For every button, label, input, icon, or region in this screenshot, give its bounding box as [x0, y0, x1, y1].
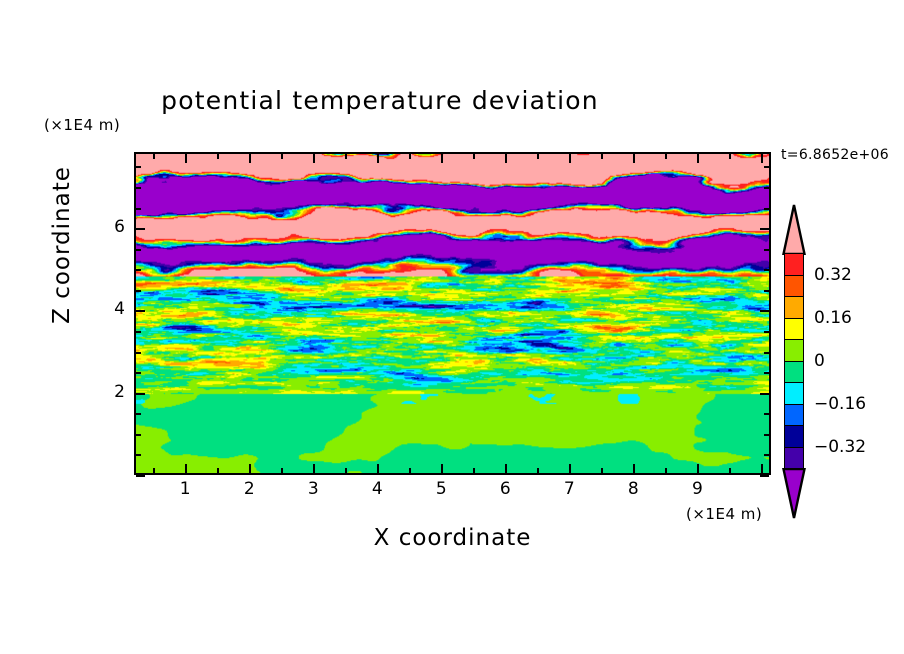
tick-x-bottom — [729, 468, 731, 473]
tick-x-bottom — [441, 464, 443, 473]
x-axis-unit-label: (×1E4 m) — [686, 505, 762, 523]
tick-y-left — [136, 187, 141, 189]
tick-x-bottom — [633, 464, 635, 473]
tick-y-left — [136, 249, 141, 251]
tick-x-bottom — [761, 464, 763, 473]
colorbar-band — [784, 253, 804, 276]
colorbar-band — [784, 382, 804, 405]
tick-x-bottom — [697, 464, 699, 473]
tick-x-top — [473, 154, 475, 159]
x-tick-label: 2 — [234, 479, 264, 499]
x-tick-label: 9 — [682, 479, 712, 499]
colorbar-band — [784, 447, 804, 470]
tick-y-left — [136, 228, 145, 230]
colorbar-tick-label: 0 — [814, 351, 884, 371]
tick-x-top — [665, 154, 667, 159]
tick-y-left — [136, 393, 145, 395]
colorbar-band — [784, 361, 804, 384]
x-tick-label: 7 — [554, 479, 584, 499]
tick-x-top — [505, 154, 507, 163]
tick-x-top — [217, 154, 219, 159]
y-tick-label: 4 — [95, 299, 125, 319]
tick-y-right — [760, 475, 769, 477]
tick-y-left — [136, 475, 145, 477]
tick-x-top — [185, 154, 187, 163]
colorbar-over-cap — [781, 203, 807, 253]
x-axis-title: X coordinate — [134, 525, 771, 551]
tick-x-top — [601, 154, 603, 159]
tick-x-top — [729, 154, 731, 159]
tick-x-bottom — [601, 468, 603, 473]
tick-x-bottom — [665, 468, 667, 473]
tick-x-top — [441, 154, 443, 163]
colorbar-tick-label: 0.16 — [814, 308, 884, 328]
tick-x-bottom — [153, 468, 155, 473]
y-tick-label: 2 — [95, 382, 125, 402]
tick-y-left — [136, 331, 141, 333]
colorbar-tick-label: −0.16 — [814, 394, 884, 414]
colorbar-band — [784, 425, 804, 448]
tick-y-right — [764, 269, 769, 271]
tick-x-top — [281, 154, 283, 159]
x-tick-label: 3 — [298, 479, 328, 499]
colorbar-tick-label: −0.32 — [814, 437, 884, 457]
colorbar-band — [784, 318, 804, 341]
tick-x-bottom — [537, 468, 539, 473]
tick-x-top — [761, 154, 763, 163]
tick-x-bottom — [409, 468, 411, 473]
tick-x-bottom — [281, 468, 283, 473]
tick-x-bottom — [473, 468, 475, 473]
tick-x-top — [697, 154, 699, 163]
tick-y-right — [764, 166, 769, 168]
colorbar: 0.320.160−0.16−0.32 — [781, 203, 807, 518]
tick-x-top — [409, 154, 411, 159]
colorbar-under-cap — [781, 468, 807, 518]
tick-y-right — [764, 352, 769, 354]
tick-x-bottom — [377, 464, 379, 473]
tick-y-right — [764, 249, 769, 251]
tick-x-top — [633, 154, 635, 163]
tick-x-top — [313, 154, 315, 163]
tick-y-right — [760, 310, 769, 312]
colorbar-band — [784, 296, 804, 319]
tick-y-right — [760, 393, 769, 395]
tick-y-right — [764, 372, 769, 374]
tick-x-top — [153, 154, 155, 159]
y-tick-label: 6 — [95, 217, 125, 237]
tick-x-bottom — [505, 464, 507, 473]
x-tick-label: 5 — [426, 479, 456, 499]
tick-x-bottom — [249, 464, 251, 473]
page-title: potential temperature deviation — [0, 86, 760, 115]
tick-y-right — [764, 187, 769, 189]
x-tick-label: 8 — [618, 479, 648, 499]
scalar-field-render — [136, 154, 769, 473]
colorbar-band — [784, 275, 804, 298]
tick-x-top — [569, 154, 571, 163]
tick-y-left — [136, 208, 141, 210]
tick-x-top — [537, 154, 539, 159]
colorbar-band — [784, 339, 804, 362]
y-axis-title: Z coordinate — [49, 145, 75, 345]
tick-y-right — [764, 434, 769, 436]
tick-y-left — [136, 413, 141, 415]
tick-y-right — [764, 454, 769, 456]
tick-y-left — [136, 310, 145, 312]
tick-y-left — [136, 454, 141, 456]
tick-x-bottom — [569, 464, 571, 473]
tick-y-right — [764, 413, 769, 415]
tick-y-left — [136, 269, 141, 271]
x-tick-label: 1 — [170, 479, 200, 499]
tick-x-top — [377, 154, 379, 163]
colorbar-band — [784, 404, 804, 427]
heatmap-plot-area — [134, 152, 771, 475]
tick-y-right — [764, 290, 769, 292]
tick-x-bottom — [217, 468, 219, 473]
tick-y-right — [764, 208, 769, 210]
tick-y-left — [136, 372, 141, 374]
tick-x-bottom — [185, 464, 187, 473]
tick-x-bottom — [345, 468, 347, 473]
colorbar-tick-label: 0.32 — [814, 265, 884, 285]
tick-y-left — [136, 290, 141, 292]
tick-y-right — [764, 331, 769, 333]
tick-x-top — [249, 154, 251, 163]
tick-y-left — [136, 166, 141, 168]
y-axis-unit-label: (×1E4 m) — [44, 116, 120, 134]
tick-x-top — [345, 154, 347, 159]
tick-y-right — [760, 228, 769, 230]
tick-y-left — [136, 352, 141, 354]
tick-x-bottom — [313, 464, 315, 473]
tick-y-left — [136, 434, 141, 436]
figure-canvas: potential temperature deviation (×1E4 m)… — [0, 0, 904, 654]
x-tick-label: 4 — [362, 479, 392, 499]
x-tick-label: 6 — [490, 479, 520, 499]
time-annotation: t=6.8652e+06 — [781, 147, 889, 163]
